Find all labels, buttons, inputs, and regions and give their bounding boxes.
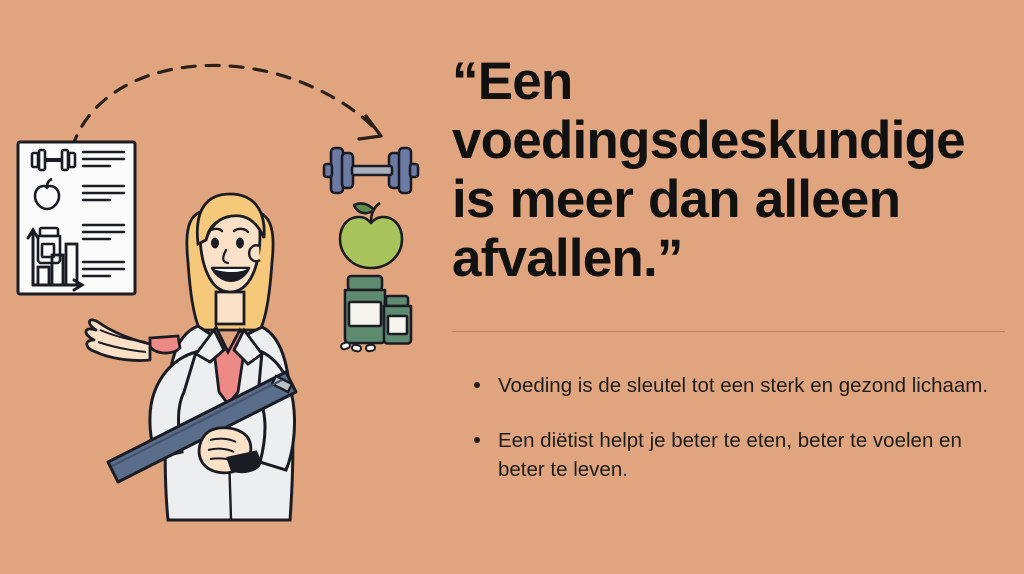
supplement-bottles-icon xyxy=(340,276,411,352)
bullet-text: Een diëtist helpt je beter te eten, bete… xyxy=(498,429,962,481)
dashed-arrow-icon xyxy=(72,65,381,148)
bullet-text: Voeding is de sleutel tot een sterk en g… xyxy=(498,374,988,397)
divider xyxy=(452,331,1005,332)
dumbbell-icon xyxy=(324,148,418,193)
quote-headline: “Een voedingsdeskundige is meer dan alle… xyxy=(452,52,1008,288)
report-document-icon xyxy=(18,142,135,294)
text-column: “Een voedingsdeskundige is meer dan alle… xyxy=(452,0,1024,574)
slide-canvas: “Een voedingsdeskundige is meer dan alle… xyxy=(0,0,1024,574)
list-item: Een diëtist helpt je beter te eten, bete… xyxy=(466,426,1011,484)
bullet-list: Voeding is de sleutel tot een sterk en g… xyxy=(466,371,1011,510)
apple-icon xyxy=(340,203,402,268)
illustration xyxy=(0,0,440,574)
list-item: Voeding is de sleutel tot een sterk en g… xyxy=(466,371,1011,400)
